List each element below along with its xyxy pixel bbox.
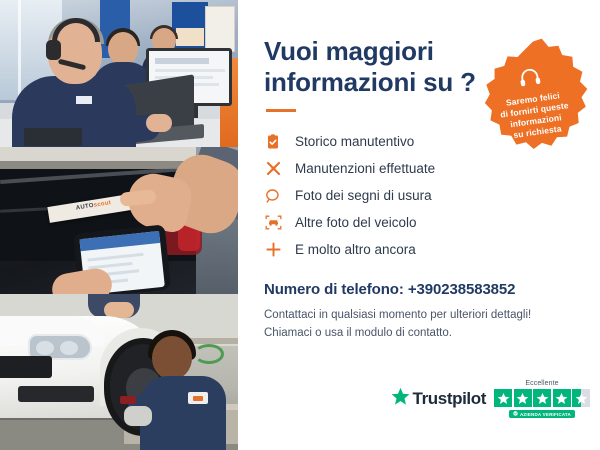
verified-label: AZIENDA VERIFICATA bbox=[520, 412, 571, 417]
photo-call-centre bbox=[0, 0, 238, 147]
feature-label: Altre foto del veicolo bbox=[295, 215, 417, 230]
feature-item-foto-segni-usura[interactable]: Foto dei segni di usura bbox=[264, 182, 576, 209]
contact-line-2: Chiamaci o usa il modulo di contatto. bbox=[264, 327, 452, 339]
check-circle-icon bbox=[513, 411, 518, 417]
star-filled bbox=[494, 389, 512, 407]
headline-line-1: Vuoi maggiori bbox=[264, 36, 434, 66]
checklist-document-icon bbox=[264, 133, 282, 151]
title-divider bbox=[266, 109, 296, 112]
verified-company-badge: AZIENDA VERIFICATA bbox=[509, 410, 575, 418]
contact-instructions: Contattaci in qualsiasi momento per ulte… bbox=[264, 307, 576, 343]
feature-label: Manutenzioni effettuate bbox=[295, 161, 435, 176]
badge-text: Saremo felici di fornirti queste informa… bbox=[490, 88, 581, 144]
car-frame-icon bbox=[264, 214, 282, 232]
trustpilot-score-block: Eccellente AZIENDA VERIFICATA bbox=[494, 380, 590, 418]
feature-label: E molto altro ancora bbox=[295, 242, 416, 257]
feature-item-molto-altro[interactable]: E molto altro ancora bbox=[264, 236, 576, 263]
trustpilot-logo: Trustpilot bbox=[391, 387, 486, 411]
headline-line-2: informazioni su ? bbox=[264, 67, 476, 97]
star-filled bbox=[533, 389, 551, 407]
promo-card: AUTOscout Vuoi maggiori informazioni bbox=[0, 0, 600, 450]
phone-label: Numero di telefono: bbox=[264, 281, 404, 298]
phone-line: Numero di telefono: +390238583852 bbox=[264, 281, 576, 298]
trustpilot-star-icon bbox=[391, 387, 410, 411]
feature-label: Storico manutentivo bbox=[295, 134, 414, 149]
magnifier-icon bbox=[264, 187, 282, 205]
star-rating bbox=[494, 389, 590, 407]
photo-inspection: AUTOscout bbox=[0, 147, 238, 294]
photo-workshop bbox=[0, 294, 238, 450]
rating-label: Eccellente bbox=[525, 380, 558, 387]
phone-number[interactable]: +390238583852 bbox=[408, 281, 516, 298]
contact-line-1: Contattaci in qualsiasi momento per ulte… bbox=[264, 309, 531, 321]
trustpilot-wordmark: Trustpilot bbox=[413, 389, 486, 409]
star-filled bbox=[514, 389, 532, 407]
tools-cross-icon bbox=[264, 160, 282, 178]
star-filled bbox=[553, 389, 571, 407]
trustpilot-rating[interactable]: Trustpilot Eccellente AZIENDA VERIFICATA bbox=[391, 380, 590, 418]
strip-brand: AUTO bbox=[76, 203, 95, 212]
star-half bbox=[572, 389, 590, 407]
plus-icon bbox=[264, 241, 282, 259]
feature-item-altre-foto-veicolo[interactable]: Altre foto del veicolo bbox=[264, 209, 576, 236]
content-panel: Vuoi maggiori informazioni su ? Storico … bbox=[238, 0, 600, 450]
callout-badge: Saremo felici di fornirti queste informa… bbox=[471, 38, 595, 162]
strip-brand-accent: scout bbox=[93, 200, 111, 209]
headset-icon bbox=[518, 66, 543, 93]
feature-label: Foto dei segni di usura bbox=[295, 188, 432, 203]
photo-column: AUTOscout bbox=[0, 0, 238, 450]
